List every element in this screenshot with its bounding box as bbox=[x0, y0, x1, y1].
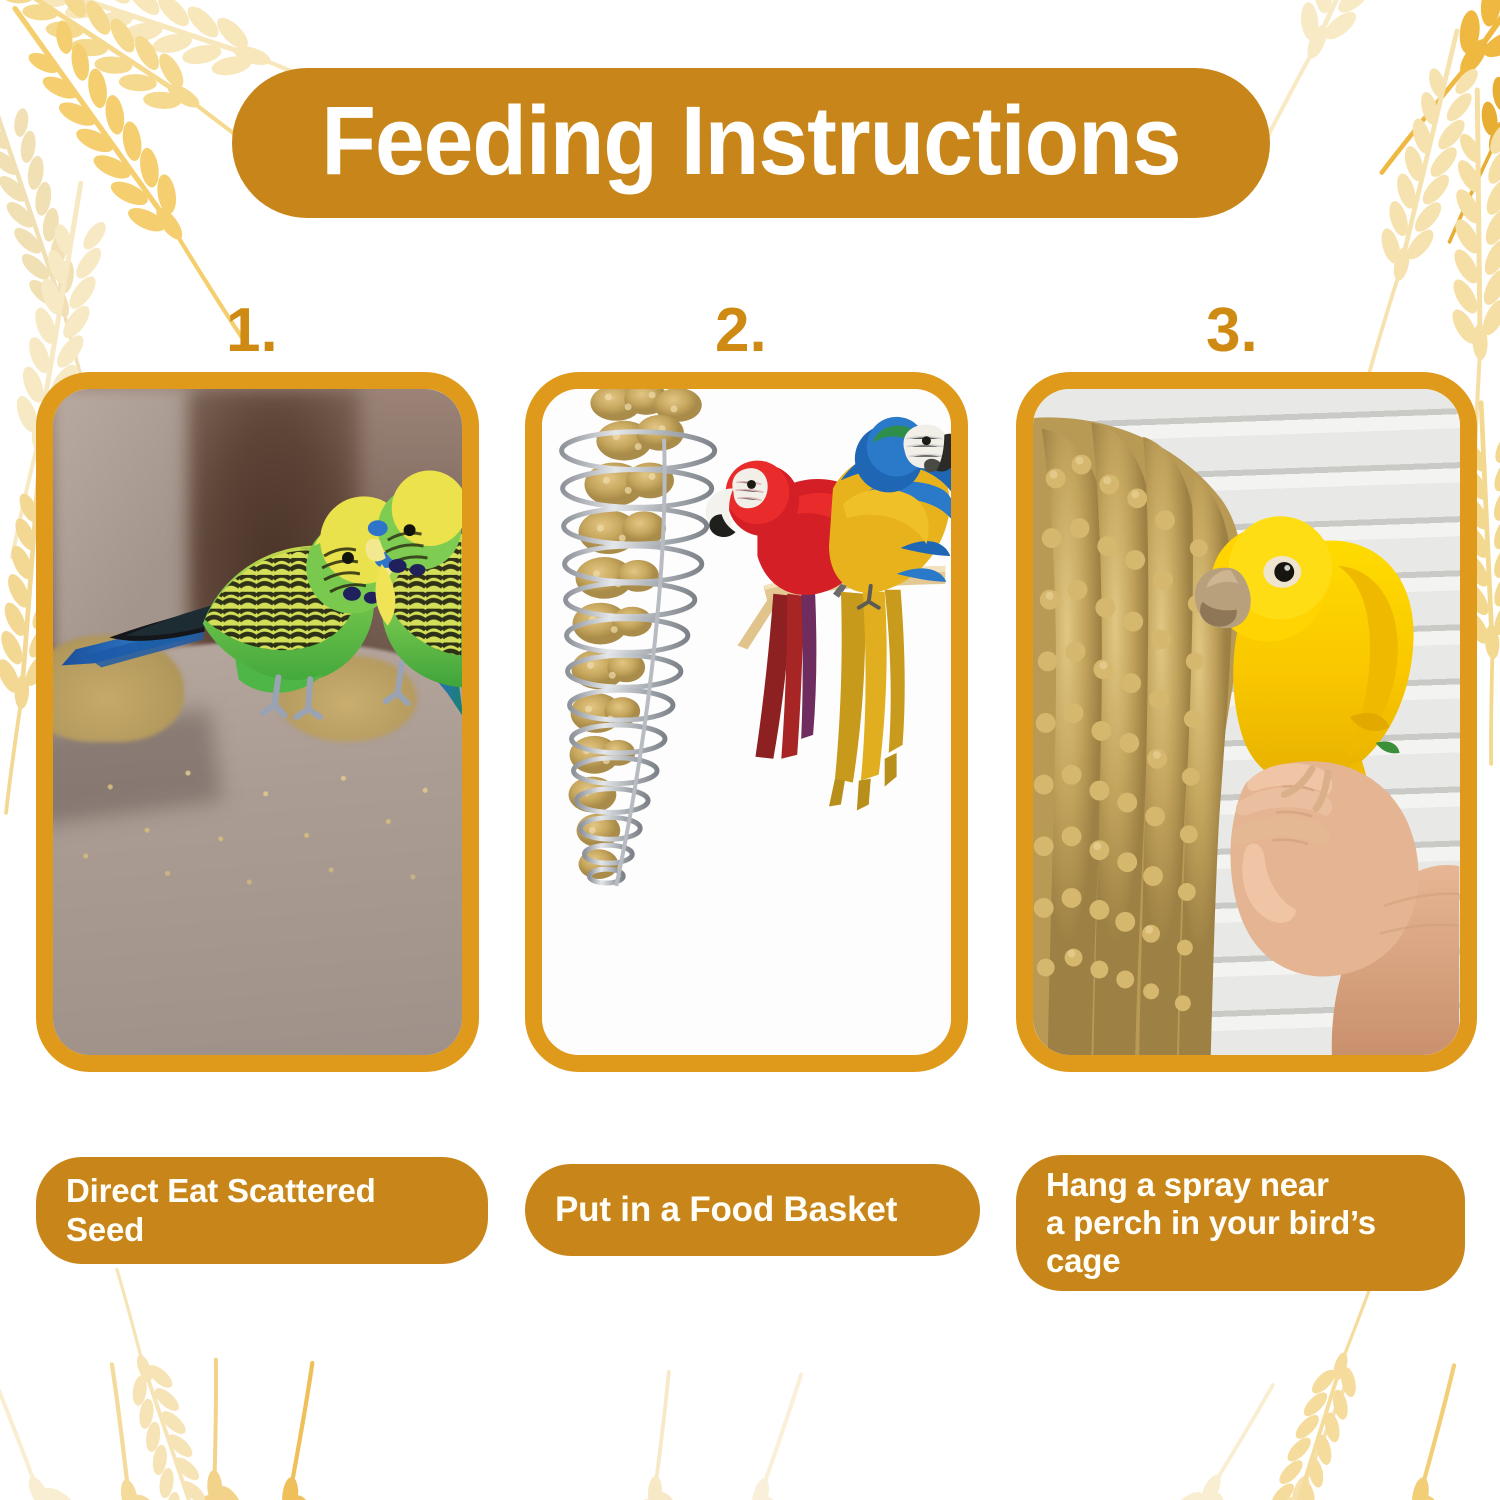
step-photo-card-1 bbox=[36, 372, 479, 1072]
wheat-bottom-center bbox=[660, 1362, 822, 1500]
wheat-bottom-center-2 bbox=[608, 1370, 689, 1500]
food-basket-and-macaws-illustration bbox=[542, 389, 951, 1055]
wheat-bottom-right-4 bbox=[1253, 1259, 1393, 1500]
step-photo-3 bbox=[1033, 389, 1460, 1055]
conure-and-millet-illustration bbox=[1033, 389, 1460, 1055]
wheat-bottom-right-3 bbox=[1071, 1364, 1291, 1500]
page-title: Feeding Instructions bbox=[321, 92, 1180, 195]
step-caption-pill-2: Put in a Food Basket bbox=[525, 1164, 980, 1256]
step-photo-card-3 bbox=[1016, 372, 1477, 1072]
step-number-1: 1. bbox=[36, 300, 481, 372]
step-caption-3: Hang a spray near a perch in your bird’s… bbox=[1046, 1166, 1376, 1281]
step-photo-2 bbox=[542, 389, 951, 1055]
step-number-2: 2. bbox=[525, 300, 970, 372]
wheat-top-right-2 bbox=[1361, 0, 1500, 205]
page-title-pill: Feeding Instructions bbox=[232, 68, 1270, 218]
wheat-bottom-left-2 bbox=[0, 1364, 178, 1500]
step-caption-2: Put in a Food Basket bbox=[555, 1190, 897, 1231]
millet-spray-bundle bbox=[1033, 417, 1244, 1055]
human-hand bbox=[1230, 761, 1459, 1055]
wheat-top-right bbox=[1238, 0, 1453, 176]
wheat-bottom-right bbox=[1184, 1359, 1370, 1500]
wheat-top-right-3 bbox=[1431, 0, 1500, 258]
spiral-wire-basket bbox=[562, 432, 715, 883]
budgie-left bbox=[62, 496, 408, 717]
step-photo-card-2 bbox=[525, 372, 968, 1072]
step-caption-1: Direct Eat Scattered Seed bbox=[66, 1172, 376, 1249]
blue-and-gold-macaw bbox=[829, 417, 951, 811]
wheat-bottom-left bbox=[59, 1360, 216, 1500]
step-column-2: 2. bbox=[525, 300, 970, 1072]
infographic-page: Feeding Instructions 1. bbox=[0, 0, 1500, 1500]
wheat-bottom-right-2 bbox=[1332, 1356, 1476, 1500]
step-number-3: 3. bbox=[1016, 300, 1477, 372]
wheat-bottom-left-4 bbox=[224, 1358, 335, 1500]
budgerigars-illustration bbox=[53, 389, 462, 1055]
step-column-1: 1. bbox=[36, 300, 481, 1072]
step-column-3: 3. bbox=[1016, 300, 1477, 1072]
step-caption-pill-3: Hang a spray near a perch in your bird’s… bbox=[1016, 1155, 1465, 1291]
wheat-bottom-left-3 bbox=[165, 1358, 264, 1500]
step-photo-1 bbox=[53, 389, 462, 1055]
step-caption-pill-1: Direct Eat Scattered Seed bbox=[36, 1157, 488, 1264]
wheat-bottom-left-5 bbox=[79, 1264, 238, 1500]
